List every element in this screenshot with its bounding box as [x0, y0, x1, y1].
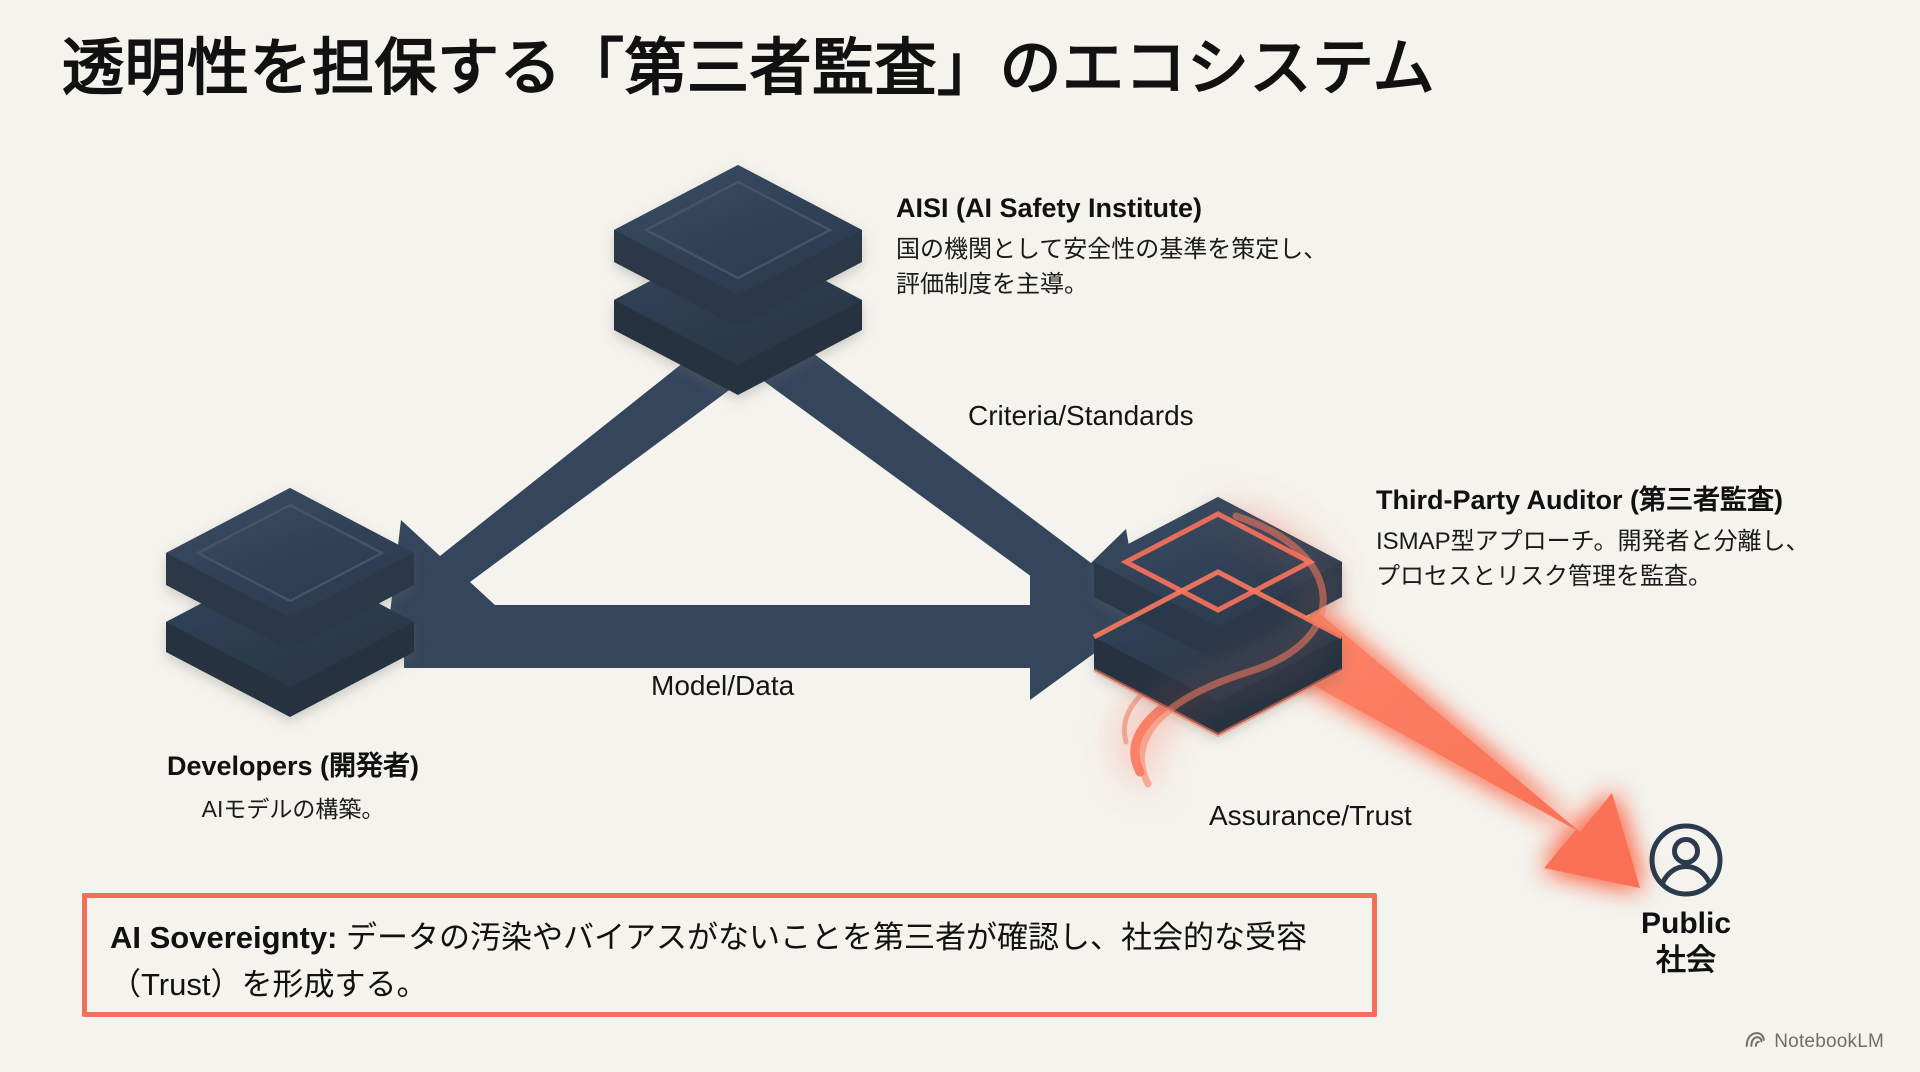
- node-label-public-ja: 社会: [1596, 943, 1776, 980]
- node-auditor-icon: [1094, 497, 1342, 735]
- node-description-aisi: 国の機関として安全性の基準を策定し、評価制度を主導。: [896, 232, 1327, 303]
- node-caption-aisi: AISI (AI Safety Institute) 国の機関として安全性の基準…: [896, 192, 1327, 303]
- node-public: Public 社会: [1596, 820, 1776, 979]
- callout-text: AI Sovereignty: データの汚染やバイアスがないことを第三者が確認し…: [110, 915, 1360, 1008]
- edge-label-model-data: Model/Data: [651, 670, 794, 702]
- node-title-aisi: AISI (AI Safety Institute): [896, 192, 1327, 226]
- edge-label-assurance-trust: Assurance/Trust: [1209, 800, 1412, 832]
- node-caption-developers: Developers (開発者) AIモデルの構築。: [128, 750, 458, 826]
- edge-label-criteria-standards: Criteria/Standards: [968, 400, 1194, 432]
- node-caption-auditor: Third-Party Auditor (第三者監査) ISMAP型アプローチ。…: [1376, 484, 1809, 595]
- node-developers-icon: [166, 488, 414, 717]
- slide-canvas: 透明性を担保する「第三者監査」のエコシステム: [0, 0, 1920, 1072]
- node-description-auditor: ISMAP型アプローチ。開発者と分離し、プロセスとリスク管理を監査。: [1376, 524, 1809, 595]
- person-circle-icon: [1646, 820, 1726, 900]
- notebooklm-logo-icon: [1744, 1030, 1766, 1054]
- node-title-auditor: Third-Party Auditor (第三者監査): [1376, 484, 1809, 518]
- node-description-developers: AIモデルの構築。: [128, 792, 458, 826]
- watermark-label: NotebookLM: [1774, 1031, 1884, 1053]
- node-title-developers: Developers (開発者): [128, 750, 458, 784]
- watermark: NotebookLM: [1744, 1030, 1884, 1054]
- node-label-public-en: Public: [1596, 906, 1776, 943]
- node-aisi-icon: [614, 165, 862, 395]
- callout-lead: AI Sovereignty:: [110, 920, 337, 955]
